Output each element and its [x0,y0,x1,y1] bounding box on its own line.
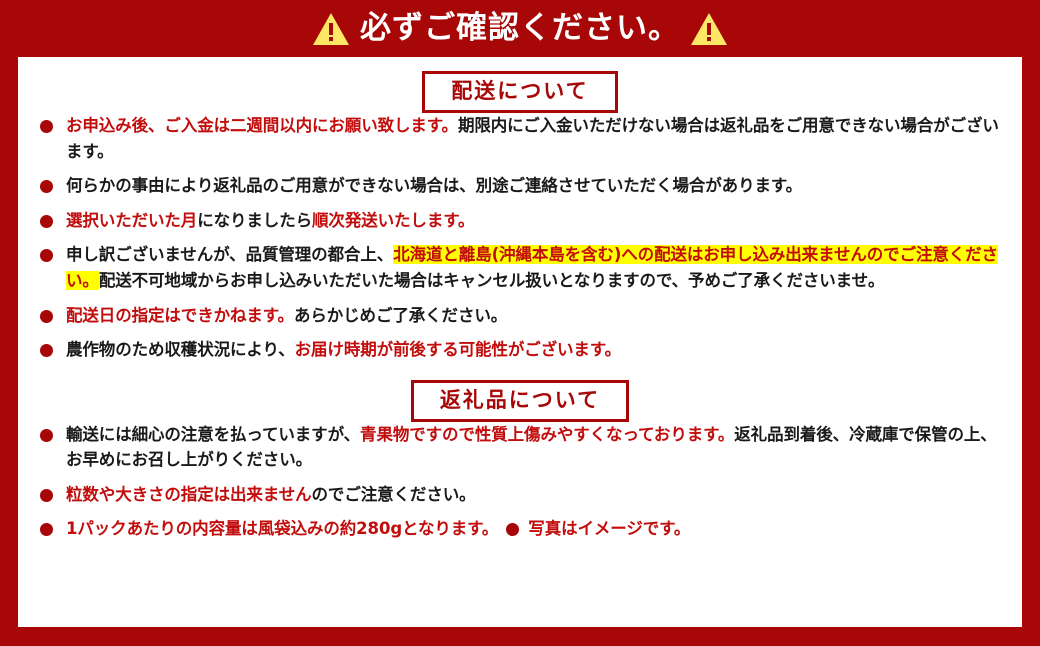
gift-notice-list: 輸送には細心の注意を払っていますが、青果物ですので性質上傷みやすくなっております… [34,422,1006,542]
bullet-icon [40,180,53,193]
item-text-part: 輸送には細心の注意を払っていますが、 [66,425,360,444]
warning-triangle-icon-right [690,12,728,46]
list-item: 輸送には細心の注意を払っていますが、青果物ですので性質上傷みやすくなっております… [34,422,1006,473]
bullet-icon [40,523,53,536]
bullet-icon [40,344,53,357]
list-item: 粒数や大きさの指定は出来ませんのでご注意ください。 [34,482,1006,508]
header-banner: 必ずご確認ください。 [0,0,1040,57]
item-text-part: 1パックあたりの内容量は風袋込みの約280gとなります。 [66,516,498,542]
page-title: 必ずご確認ください。 [360,13,680,44]
item-text-part: 申し訳ございませんが、品質管理の都合上、 [66,245,393,264]
item-text-part: 配送日の指定はできかねます。 [66,306,294,325]
warning-triangle-icon-left [312,12,350,46]
bullet-icon [40,120,53,133]
list-item: お申込み後、ご入金は二週間以内にお願い致します。期限内にご入金いただけない場合は… [34,113,1006,164]
list-item: 配送日の指定はできかねます。あらかじめご了承ください。 [34,303,1006,329]
bullet-icon [40,249,53,262]
delivery-notice-list: お申込み後、ご入金は二週間以内にお願い致します。期限内にご入金いただけない場合は… [34,113,1006,363]
item-text-part: 粒数や大きさの指定は出来ません [66,485,312,504]
item-text-part: 配送不可地域からお申し込みいただいた場合はキャンセル扱いとなりますので、予めご了… [99,271,885,290]
bullet-icon [506,523,519,536]
list-item-photo-note: 写真はイメージです。 [498,516,690,542]
notice-page: 必ずご確認ください。 配送について お申込み後、ご入金は二週間以内にお願い致しま… [0,0,1040,646]
item-text-part: 何らかの事由により返礼品のご用意ができない場合は、別途ご連絡させていただく場合が… [66,176,802,195]
item-text-part: お届け時期が前後する可能性がございます。 [295,340,621,359]
item-text-part: 農作物のため収穫状況により、 [66,340,295,359]
list-item: 申し訳ございませんが、品質管理の都合上、北海道と離島(沖縄本島を含む)への配送は… [34,242,1006,293]
item-text-part: 順次発送いたします。 [312,211,474,230]
section-title-gift: 返礼品について [411,380,629,422]
bullet-icon [40,489,53,502]
list-item-final-row: 1パックあたりの内容量は風袋込みの約280gとなります。 写真はイメージです。 [34,516,1006,542]
bullet-icon [40,310,53,323]
list-item: 選択いただいた月になりましたら順次発送いたします。 [34,208,1006,234]
content-panel: 配送について お申込み後、ご入金は二週間以内にお願い致します。期限内にご入金いた… [18,57,1022,627]
list-item: 農作物のため収穫状況により、お届け時期が前後する可能性がございます。 [34,337,1006,363]
bullet-icon [40,215,53,228]
section-header-gift: 返礼品について [34,380,1006,422]
bullet-icon [40,429,53,442]
item-text-part: 選択いただいた月 [66,211,197,230]
list-item: 何らかの事由により返礼品のご用意ができない場合は、別途ご連絡させていただく場合が… [34,173,1006,199]
item-text-part: 青果物ですので性質上傷みやすくなっております。 [360,425,734,444]
item-text-part: のでご注意ください。 [312,485,476,504]
item-text-part: お申込み後、ご入金は二週間以内にお願い致します。 [66,116,458,135]
section-title-delivery: 配送について [422,71,617,113]
section-header-delivery: 配送について [34,71,1006,113]
item-text-part: 写真はイメージです。 [528,519,690,538]
item-text-part: になりましたら [197,211,312,230]
item-text-part: あらかじめご了承ください。 [294,306,507,325]
